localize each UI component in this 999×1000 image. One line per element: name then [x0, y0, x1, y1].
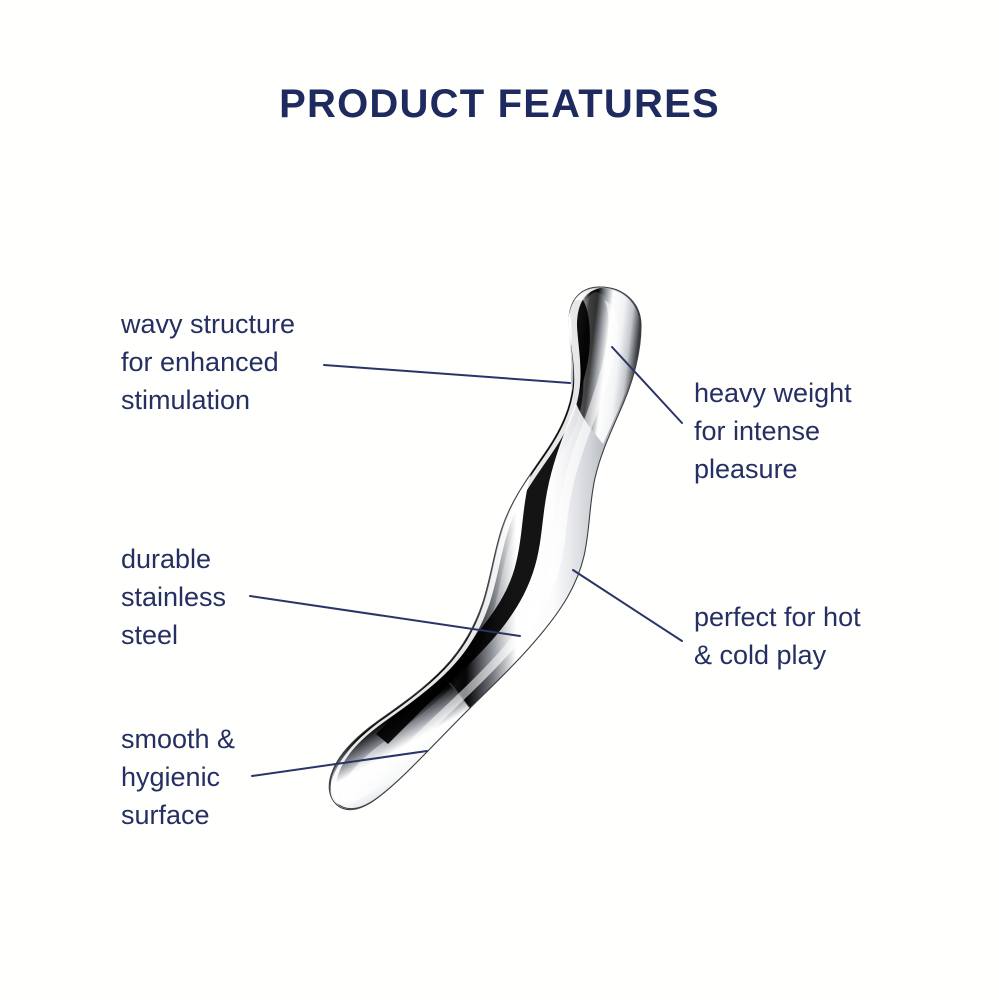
product-features-figure: PRODUCT FEATURES	[0, 0, 999, 1000]
callout-line: stainless	[121, 578, 226, 616]
callout-line: perfect for hot	[694, 598, 861, 636]
callout-line: durable	[121, 540, 226, 578]
callout-line: stimulation	[121, 381, 295, 419]
product-illustration	[0, 0, 999, 1000]
callout-hot-cold-play: perfect for hot & cold play	[694, 598, 861, 674]
callout-line: & cold play	[694, 636, 861, 674]
callout-wavy-structure: wavy structure for enhanced stimulation	[121, 305, 295, 419]
callout-line: heavy weight	[694, 374, 852, 412]
callout-heavy-weight: heavy weight for intense pleasure	[694, 374, 852, 488]
leader-line-wavy-structure	[324, 365, 570, 383]
callout-line: hygienic	[121, 758, 235, 796]
callout-smooth-hygienic-surface: smooth & hygienic surface	[121, 720, 235, 834]
callout-line: for enhanced	[121, 343, 295, 381]
callout-line: surface	[121, 796, 235, 834]
callout-durable-stainless-steel: durable stainless steel	[121, 540, 226, 654]
callout-line: smooth &	[121, 720, 235, 758]
callout-line: steel	[121, 616, 226, 654]
callout-line: wavy structure	[121, 305, 295, 343]
leader-line-hot-cold-play	[573, 570, 682, 641]
callout-line: for intense	[694, 412, 852, 450]
product-body	[329, 287, 641, 810]
callout-line: pleasure	[694, 450, 852, 488]
